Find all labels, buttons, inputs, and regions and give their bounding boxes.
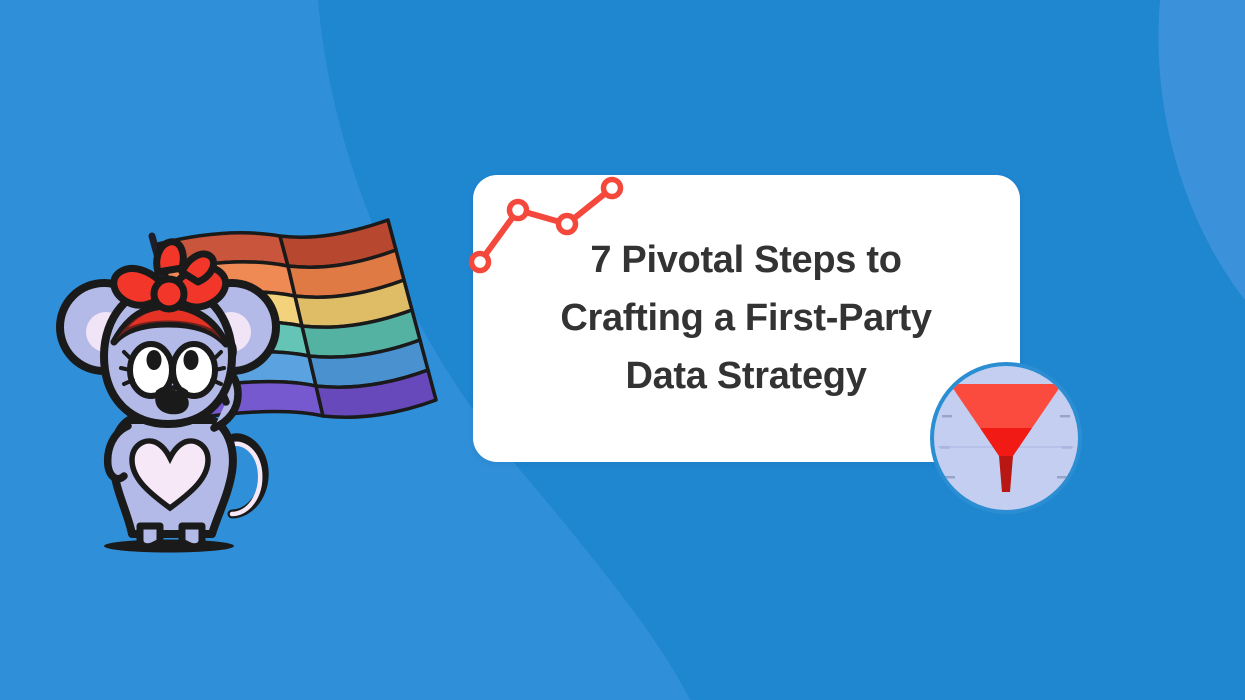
mascot-scene [36, 214, 486, 564]
mouse-leg-left [140, 526, 160, 547]
title-line-2: Crafting a First-Party [511, 289, 981, 347]
mouse-leg-right [182, 526, 202, 547]
promo-graphic: 7 Pivotal Steps to Crafting a First-Part… [0, 0, 1245, 700]
chart-point [604, 180, 621, 197]
mouse-pupil-left [147, 350, 162, 370]
funnel-icon [928, 360, 1084, 516]
chart-line [480, 188, 612, 262]
mascot-shadow [104, 540, 234, 553]
mouse-pupil-right [184, 350, 199, 370]
chart-point [510, 202, 527, 219]
line-chart-decoration [462, 168, 637, 280]
title-line-3: Data Strategy [511, 347, 981, 405]
chart-point [559, 216, 576, 233]
